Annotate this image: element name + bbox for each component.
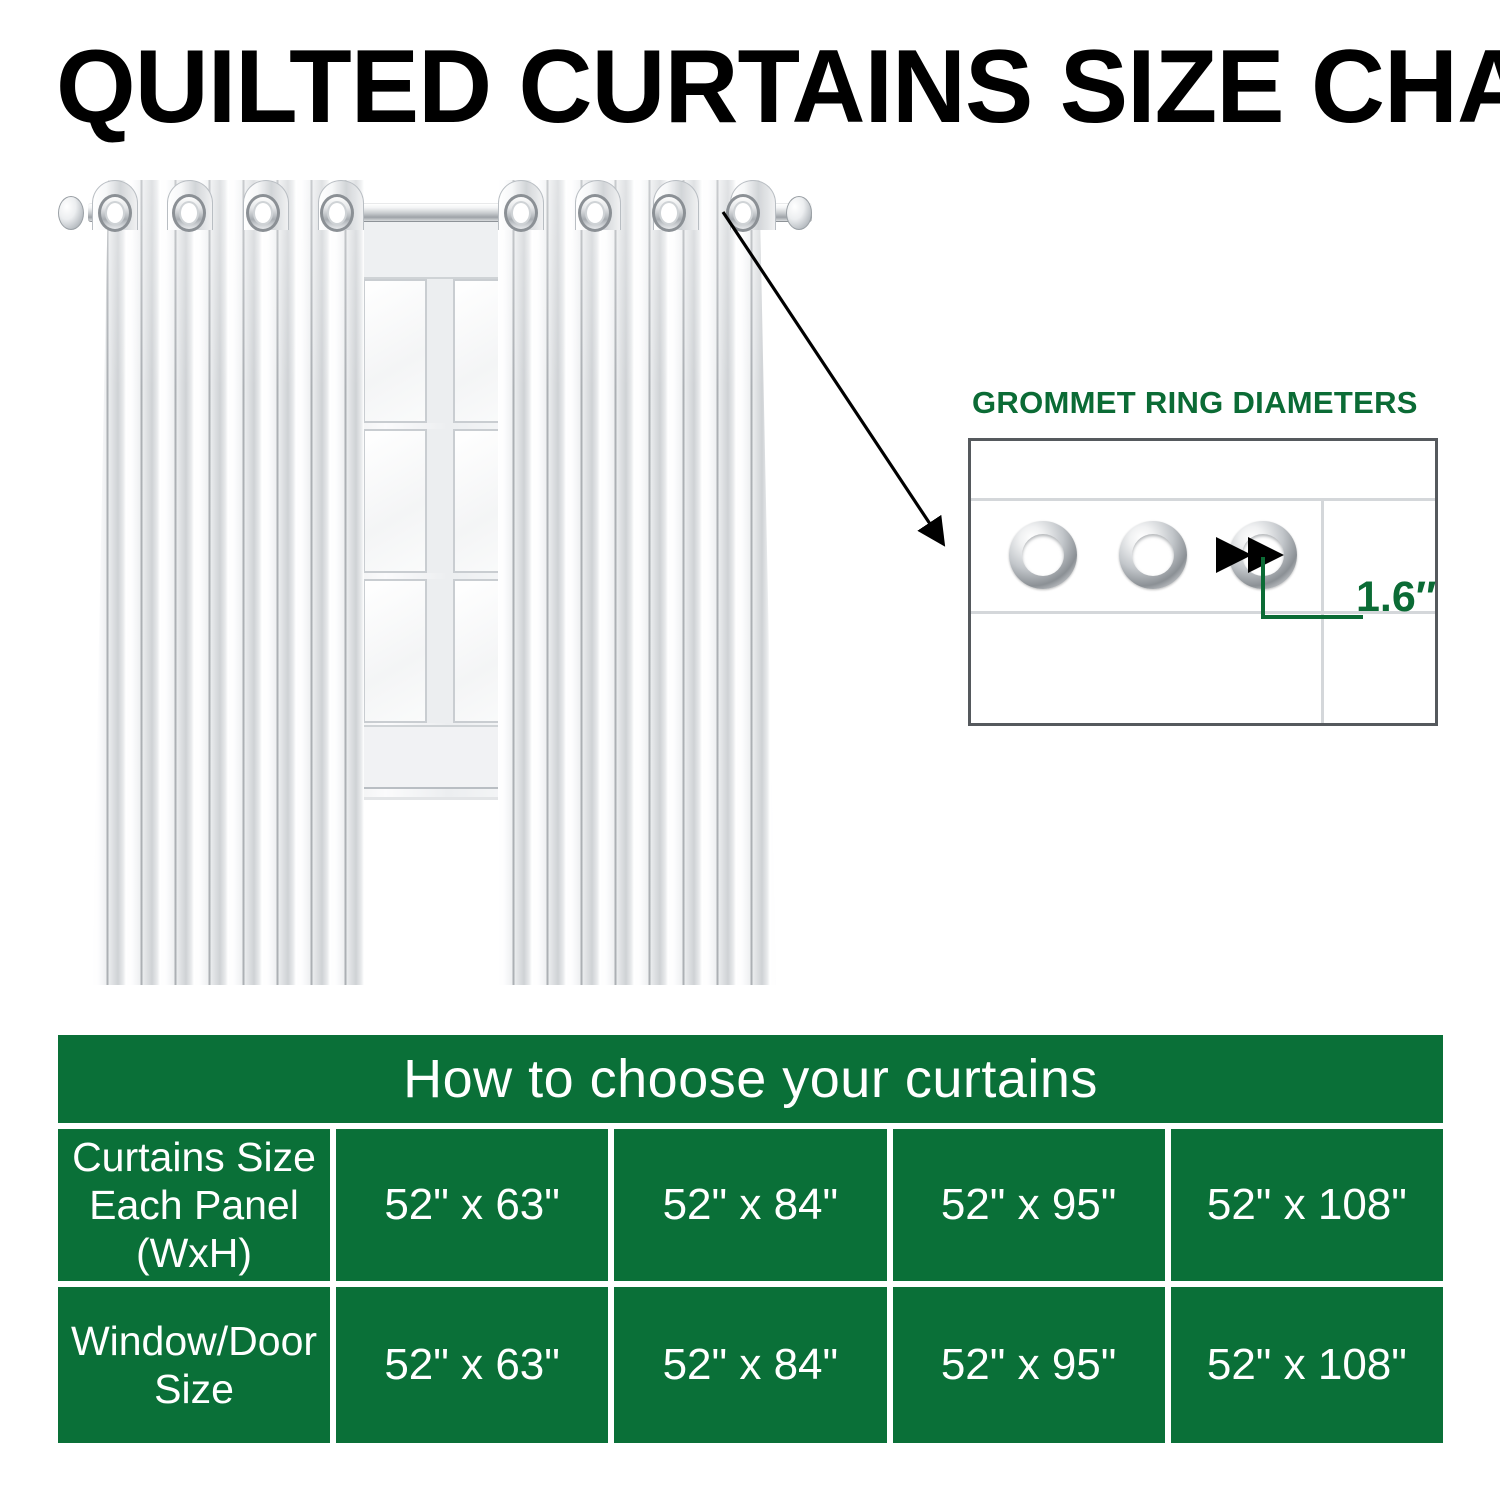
- curtain-panel-right: [498, 180, 776, 985]
- window-mullion: [427, 279, 453, 423]
- grommet-diameter-value: 1.6″: [1356, 573, 1436, 622]
- cell-window-size-3: 52" x 95": [893, 1287, 1165, 1443]
- rod-finial-left: [58, 196, 84, 230]
- cell-curtains-size-4: 52" x 108": [1171, 1129, 1443, 1281]
- fabric-band-line-top: [971, 498, 1435, 501]
- grommet-ring-icon: [1009, 521, 1077, 589]
- rod-grommet-icon: [172, 194, 206, 232]
- window-header-rail: [363, 221, 517, 279]
- window-pane: [363, 279, 427, 423]
- cell-window-size-1: 52" x 63": [336, 1287, 608, 1443]
- curtain-panel-left: [92, 180, 364, 985]
- window-mullion: [427, 579, 453, 723]
- cell-curtains-size-3: 52" x 95": [893, 1129, 1165, 1281]
- cell-window-size-2: 52" x 84": [614, 1287, 886, 1443]
- size-chart-table: How to choose your curtains Curtains Siz…: [58, 1035, 1443, 1443]
- rod-grommet-icon: [578, 194, 612, 232]
- rod-grommet-icon: [246, 194, 280, 232]
- rod-grommet-icon: [320, 194, 354, 232]
- window-apron: [363, 787, 517, 789]
- window-sill: [363, 725, 517, 789]
- rod-grommet-icon: [98, 194, 132, 232]
- table-row: Window/Door Size 52" x 63" 52" x 84" 52"…: [58, 1287, 1443, 1443]
- cell-window-size-4: 52" x 108": [1171, 1287, 1443, 1443]
- window-pane-grid: [363, 279, 517, 723]
- grommet-section-heading: GROMMET RING DIAMETERS: [972, 385, 1418, 421]
- rod-grommet-icon: [652, 194, 686, 232]
- window-pane: [363, 579, 427, 723]
- window-mullion: [427, 429, 453, 573]
- cell-curtains-size-1: 52" x 63": [336, 1129, 608, 1281]
- window-pane: [363, 429, 427, 573]
- fabric-edge-line: [1321, 498, 1324, 726]
- grommet-ring-icon: [1119, 521, 1187, 589]
- grommet-ring-icon: [1229, 521, 1297, 589]
- table-header-title: How to choose your curtains: [58, 1035, 1443, 1123]
- rod-grommet-icon: [726, 194, 760, 232]
- table-row: Curtains Size Each Panel (WxH) 52" x 63"…: [58, 1129, 1443, 1281]
- curtain-fabric-left: [92, 180, 364, 985]
- page-title: QUILTED CURTAINS SIZE CHART: [56, 34, 1435, 140]
- cell-curtains-size-2: 52" x 84": [614, 1129, 886, 1281]
- curtain-fabric-right: [498, 180, 776, 985]
- row-label-window-door-size: Window/Door Size: [58, 1287, 330, 1443]
- rod-grommet-icon: [504, 194, 538, 232]
- grommet-ring-section: GROMMET RING DIAMETERS 1.6″: [968, 385, 1446, 730]
- rod-finial-right: [786, 196, 812, 230]
- row-label-curtains-size: Curtains Size Each Panel (WxH): [58, 1129, 330, 1281]
